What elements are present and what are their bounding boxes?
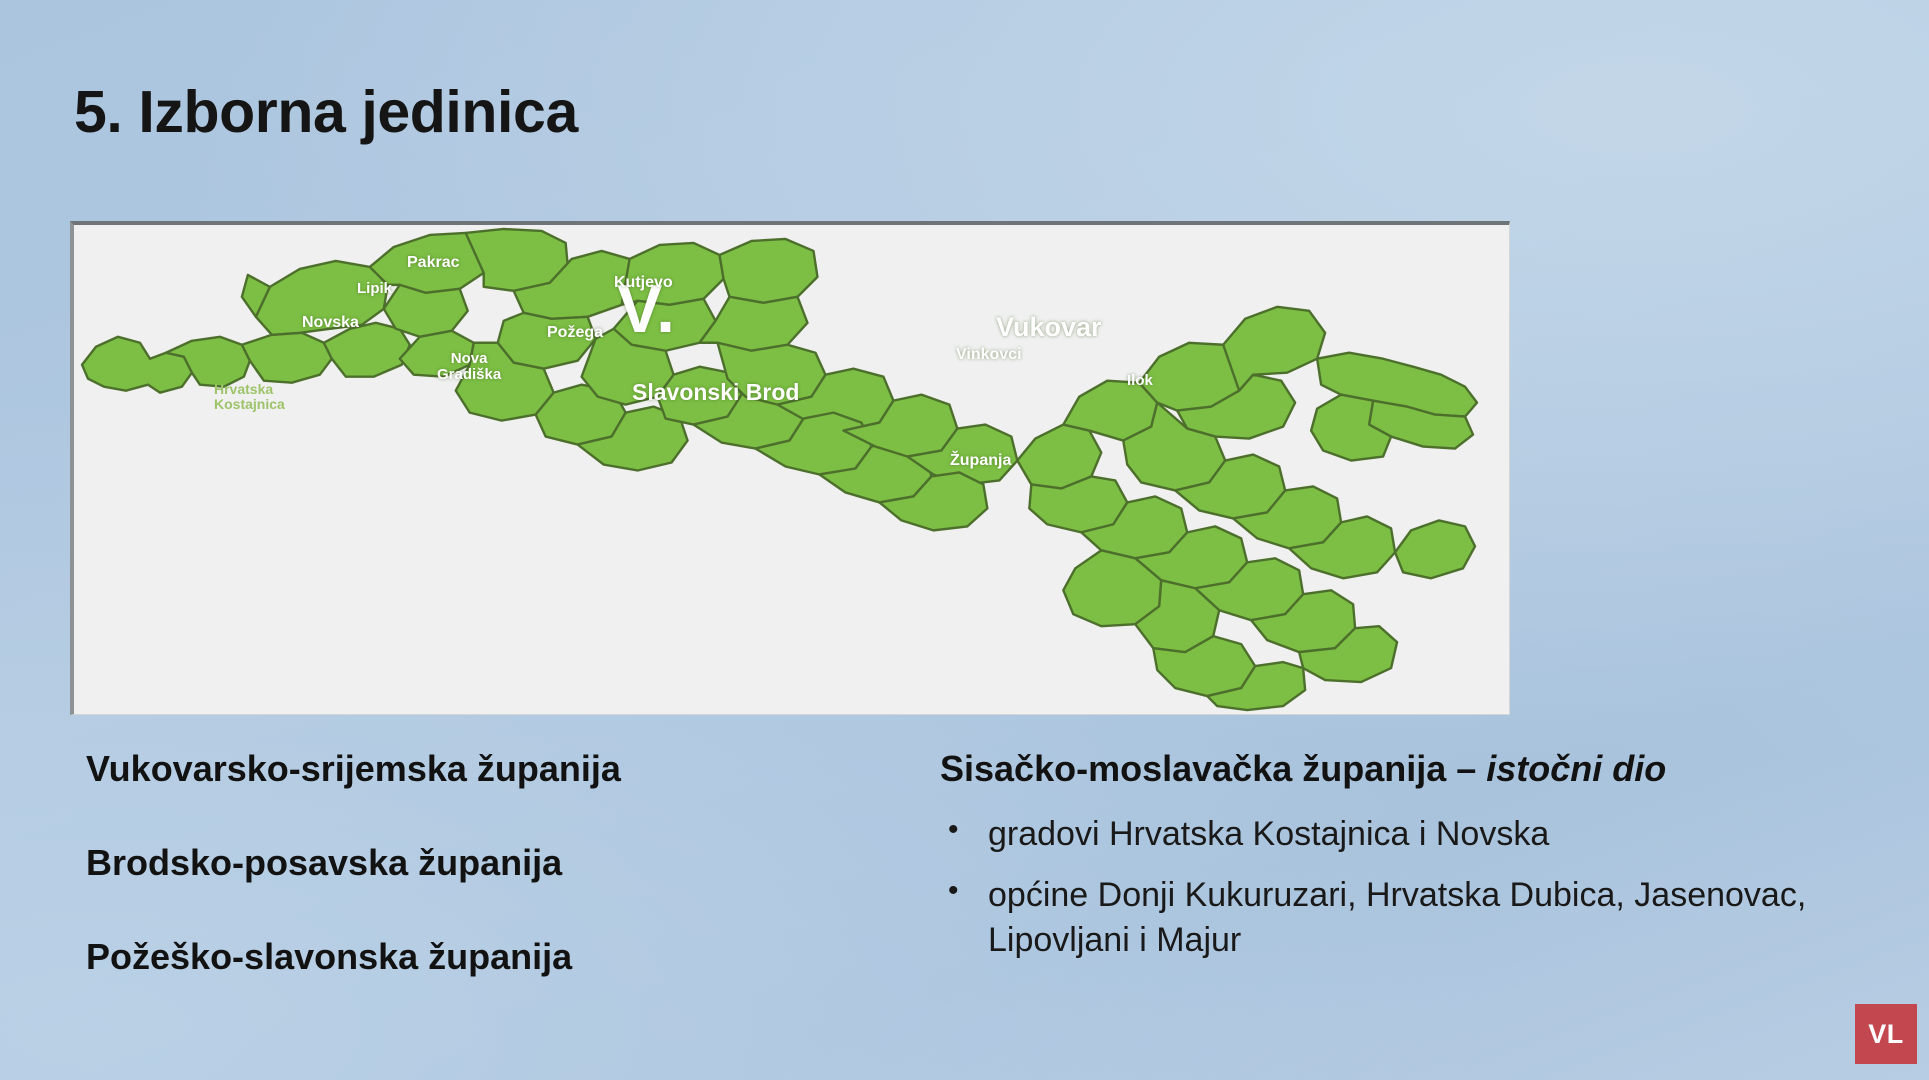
county-vukovarsko-srijemska: Vukovarsko-srijemska županija: [86, 748, 906, 790]
page-title: 5. Izborna jedinica: [74, 78, 578, 146]
slide-canvas: 5. Izborna jedinica: [0, 0, 1929, 1080]
heading-main-text: Sisačko-moslavačka županija –: [940, 748, 1486, 789]
left-counties-column: Vukovarsko-srijemska županija Brodsko-po…: [86, 748, 906, 978]
right-counties-column: Sisačko-moslavačka županija – istočni di…: [940, 748, 1840, 979]
heading-italic-text: istočni dio: [1486, 748, 1666, 789]
sisacko-moslavacka-bullet-list: gradovi Hrvatska Kostajnica i Novska opć…: [940, 812, 1840, 963]
list-item: općine Donji Kukuruzari, Hrvatska Dubica…: [940, 873, 1828, 963]
county-brodsko-posavska: Brodsko-posavska županija: [86, 842, 906, 884]
vl-logo-badge: VL: [1855, 1004, 1917, 1064]
vl-logo-text: VL: [1868, 1019, 1904, 1050]
county-pozesko-slavonska: Požeško-slavonska županija: [86, 936, 906, 978]
county-sisacko-moslavacka-heading: Sisačko-moslavačka županija – istočni di…: [940, 748, 1840, 790]
croatia-electoral-unit-5-map: [74, 225, 1509, 714]
map-panel: V. Hrvatska Kostajnica Novska Lipik Pakr…: [70, 221, 1510, 715]
list-item: gradovi Hrvatska Kostajnica i Novska: [940, 812, 1828, 857]
